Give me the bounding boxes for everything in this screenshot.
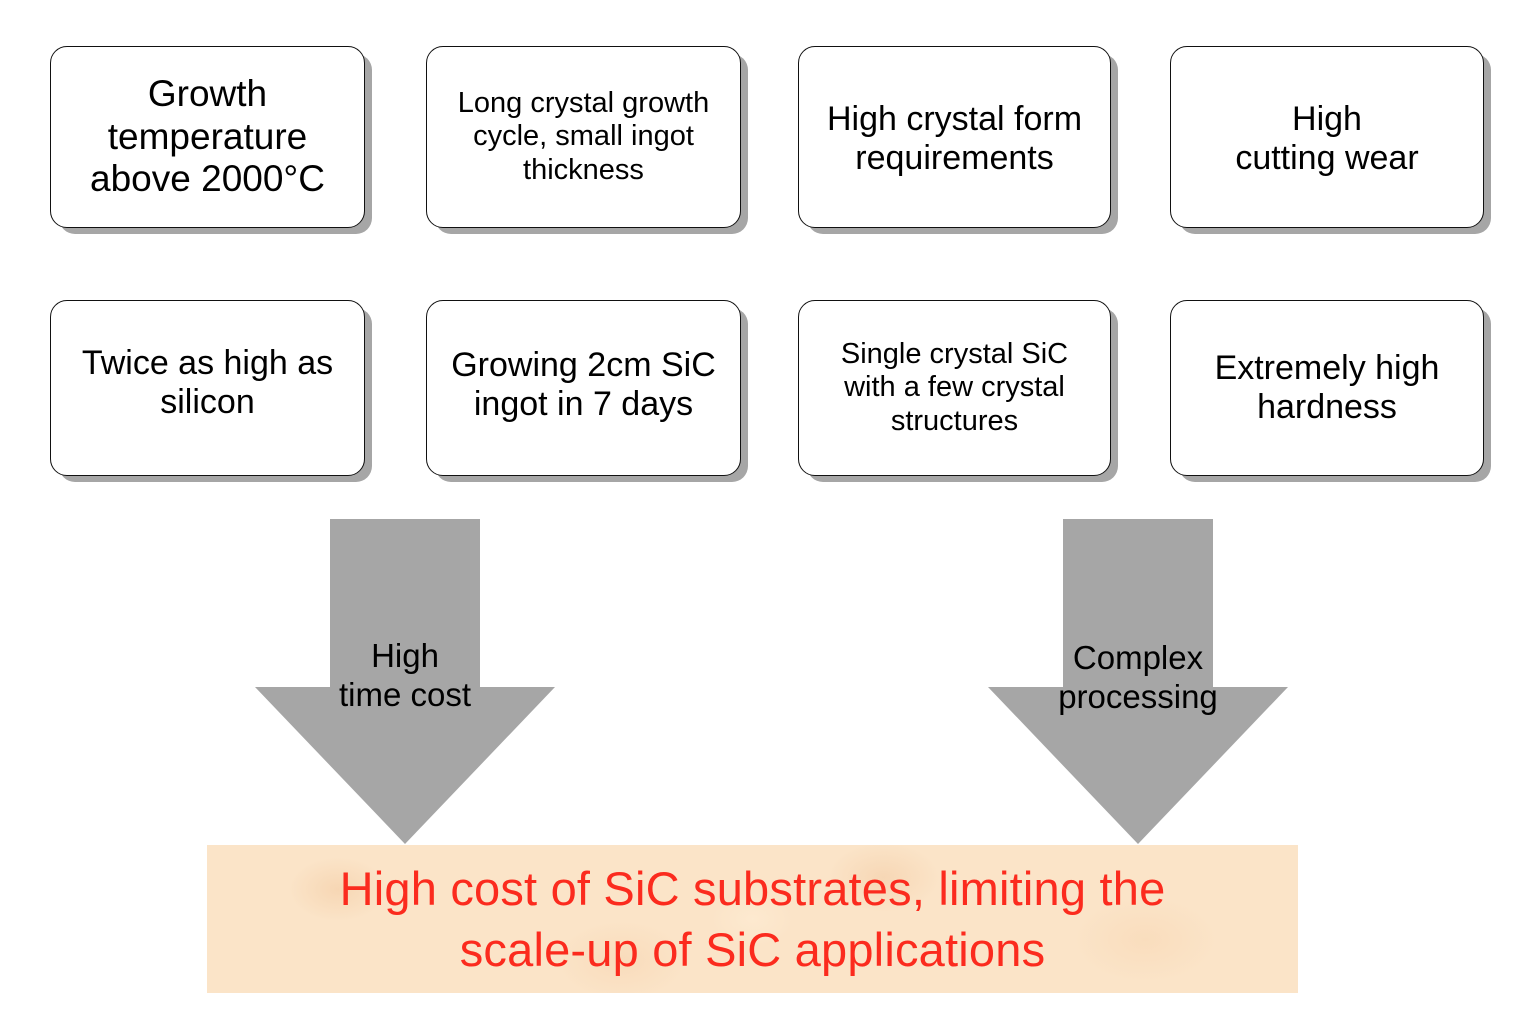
conclusion-banner[interactable]: High cost of SiC substrates, limiting th… xyxy=(207,845,1298,993)
node-few-structures-label: Single crystal SiC with a few crystal st… xyxy=(799,338,1110,439)
node-growth-temperature-label: Growth temperature above 2000°C xyxy=(51,73,364,202)
node-growth-cycle[interactable]: Long crystal growth cycle, small ingot t… xyxy=(426,46,741,228)
node-ingot-7days[interactable]: Growing 2cm SiC ingot in 7 days xyxy=(426,300,741,476)
arrow-complex-processing-label: Complex processing xyxy=(973,639,1303,717)
node-extreme-hardness-label: Extremely high hardness xyxy=(1171,349,1483,428)
node-cutting-wear[interactable]: High cutting wear xyxy=(1170,46,1484,228)
node-extreme-hardness[interactable]: Extremely high hardness xyxy=(1170,300,1484,476)
arrow-time-cost-label: High time cost xyxy=(240,637,570,715)
node-twice-silicon-label: Twice as high as silicon xyxy=(51,344,364,423)
node-growth-temperature[interactable]: Growth temperature above 2000°C xyxy=(50,46,365,228)
node-cutting-wear-label: High cutting wear xyxy=(1171,100,1483,179)
conclusion-text: High cost of SiC substrates, limiting th… xyxy=(340,858,1166,980)
arrow-down-time-cost: High time cost xyxy=(255,519,555,844)
node-few-structures[interactable]: Single crystal SiC with a few crystal st… xyxy=(798,300,1111,476)
node-crystal-form[interactable]: High crystal form requirements xyxy=(798,46,1111,228)
node-growth-cycle-label: Long crystal growth cycle, small ingot t… xyxy=(427,87,740,188)
node-ingot-7days-label: Growing 2cm SiC ingot in 7 days xyxy=(427,346,740,425)
node-twice-silicon[interactable]: Twice as high as silicon xyxy=(50,300,365,476)
diagram-canvas: Growth temperature above 2000°C Long cry… xyxy=(0,0,1536,1024)
arrow-down-complex-processing: Complex processing xyxy=(988,519,1288,844)
node-crystal-form-label: High crystal form requirements xyxy=(799,100,1110,179)
